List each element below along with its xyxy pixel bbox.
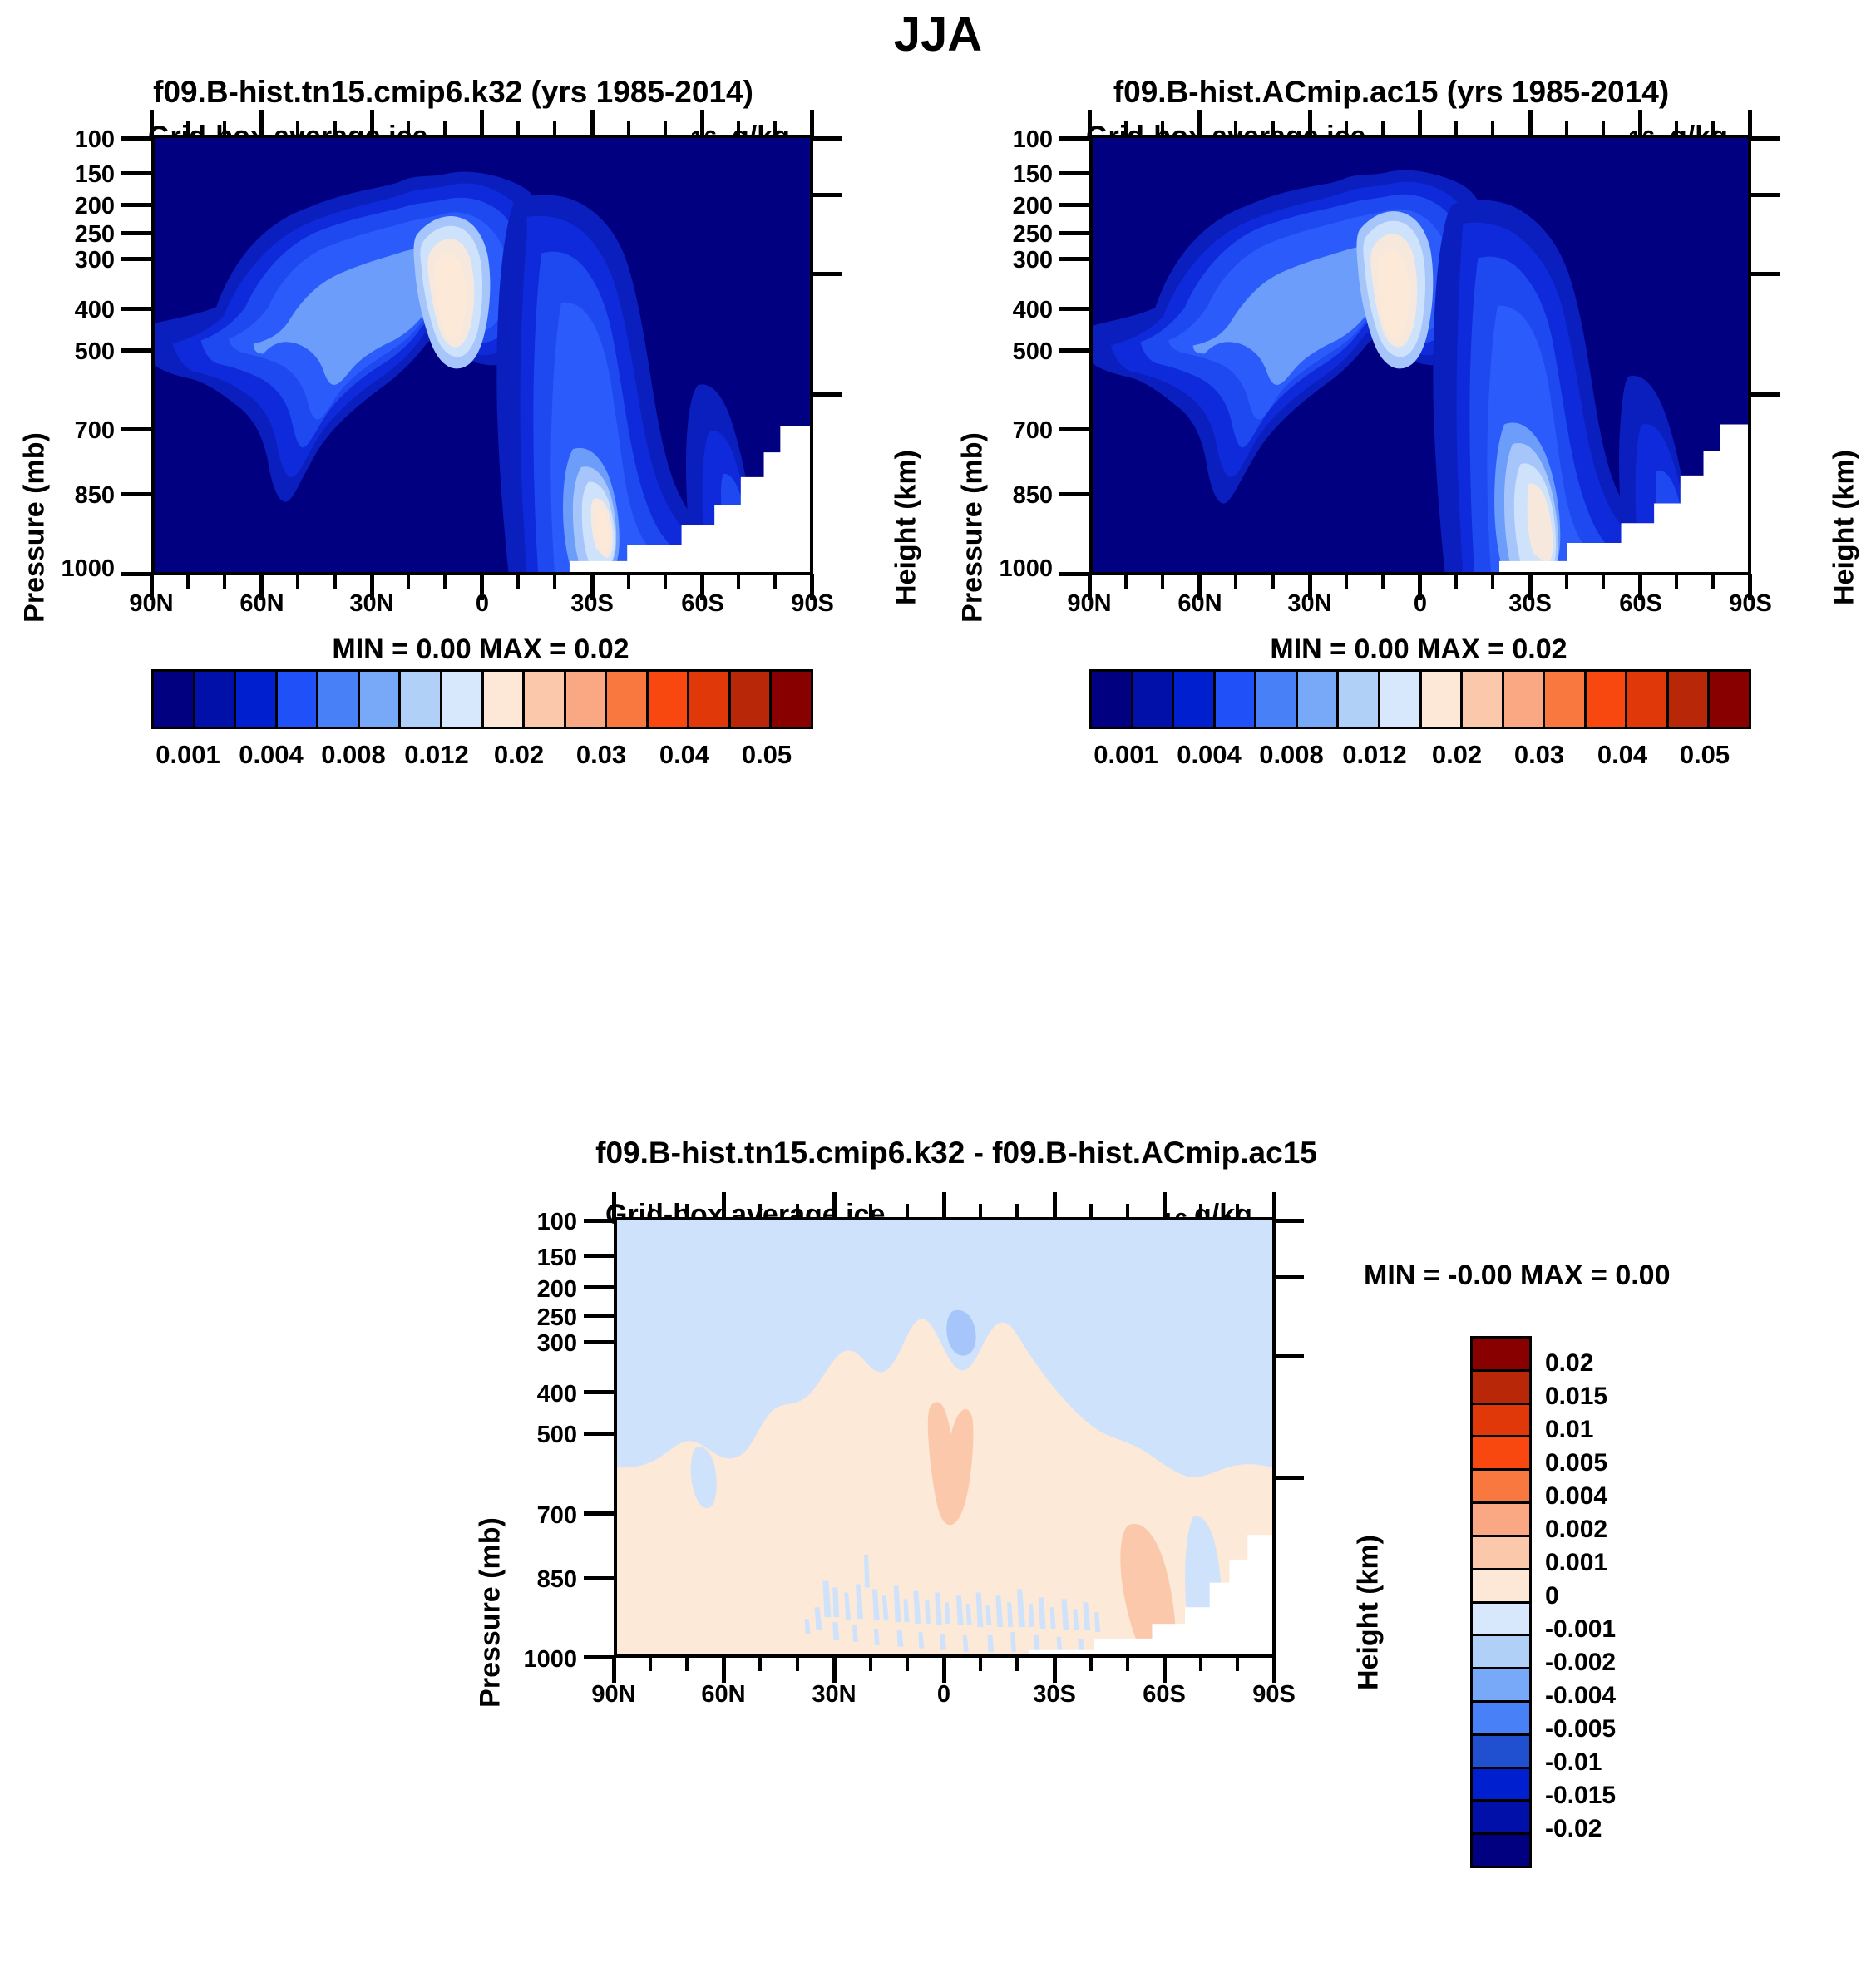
colorbar-cell-2 xyxy=(1174,672,1216,727)
colorbar-cell-9 xyxy=(525,672,566,727)
y-tick-label: 150 xyxy=(963,161,1053,189)
y-tick-label: 1000 xyxy=(963,555,1053,583)
colorbar-diff-cell-15 xyxy=(1473,1835,1529,1866)
x-tick-label: 30S xyxy=(1000,1681,1109,1708)
panel-top-left-contours xyxy=(155,138,810,574)
colorbar-cell-7 xyxy=(1380,672,1422,727)
y-tick-label: 400 xyxy=(487,1381,577,1408)
figure-title: JJA xyxy=(0,7,1876,62)
y-tick-label: 250 xyxy=(25,221,115,249)
x-tick-label: 30N xyxy=(779,1681,889,1708)
x-tick-label: 0 xyxy=(889,1681,999,1708)
colorbar-cell-8 xyxy=(1422,672,1464,727)
y-tick-label: 200 xyxy=(25,193,115,220)
panel-top-right-ylabel-height: Height (km) xyxy=(1829,395,1861,661)
colorbar-difference-labels: 0.02 0.015 0.01 0.005 0.004 0.002 0.001 … xyxy=(1545,1336,1753,1868)
panel-difference: f09.B-hist.tn15.cmip6.k32 - f09.B-hist.A… xyxy=(0,1131,1876,1982)
colorbar-cell-10 xyxy=(1504,672,1546,727)
y-tick-label: 400 xyxy=(25,297,115,324)
colorbar-diff-cell-4 xyxy=(1473,1471,1529,1504)
colorbar-diff-cell-12 xyxy=(1473,1736,1529,1769)
x-tick-label: 60S xyxy=(1109,1681,1219,1708)
colorbar-top-left xyxy=(151,669,813,729)
colorbar-cell-0 xyxy=(154,672,195,727)
panel-difference-plot xyxy=(614,1217,1276,1658)
colorbar-cell-4 xyxy=(1256,672,1298,727)
colorbar-diff-cell-10 xyxy=(1473,1669,1529,1703)
panel-top-right-minmax: MIN = 0.00 MAX = 0.02 xyxy=(1086,634,1751,666)
colorbar-top-right-labels: 0.001 0.004 0.008 0.012 0.02 0.03 0.04 0… xyxy=(1089,740,1751,778)
y-tick-label: 700 xyxy=(963,417,1053,445)
y-tick-label: 850 xyxy=(963,482,1053,510)
colorbar-cell-5 xyxy=(360,672,402,727)
colorbar-cell-6 xyxy=(401,672,442,727)
panel-top-right-contours xyxy=(1093,138,1748,574)
panel-top-left: f09.B-hist.tn15.cmip6.k32 (yrs 1985-2014… xyxy=(0,75,938,1156)
colorbar-cell-12 xyxy=(1587,672,1628,727)
colorbar-diff-cell-11 xyxy=(1473,1703,1529,1736)
y-tick-label: 300 xyxy=(25,247,115,274)
x-tick-label: 90S xyxy=(1219,1681,1329,1708)
colorbar-cell-14 xyxy=(731,672,773,727)
colorbar-diff-cell-0 xyxy=(1473,1339,1529,1372)
panel-top-right: f09.B-hist.ACmip.ac15 (yrs 1985-2014) Gr… xyxy=(938,75,1876,1156)
colorbar-diff-cell-7 xyxy=(1473,1570,1529,1604)
y-tick-label: 100 xyxy=(487,1209,577,1236)
y-tick-label: 250 xyxy=(487,1304,577,1332)
y-tick-label: 850 xyxy=(487,1566,577,1594)
y-tick-label: 1000 xyxy=(487,1646,577,1674)
colorbar-cell-3 xyxy=(278,672,319,727)
colorbar-cell-15 xyxy=(772,672,811,727)
x-tick-label: 60N xyxy=(669,1681,778,1708)
colorbar-difference xyxy=(1470,1336,1532,1868)
colorbar-cell-10 xyxy=(566,672,608,727)
y-tick-label: 850 xyxy=(25,482,115,510)
x-tick-label: 90N xyxy=(559,1681,669,1708)
colorbar-cell-1 xyxy=(195,672,237,727)
colorbar-cell-13 xyxy=(1627,672,1669,727)
colorbar-diff-cell-9 xyxy=(1473,1636,1529,1669)
colorbar-cell-13 xyxy=(689,672,731,727)
panel-top-right-plot xyxy=(1089,135,1751,575)
colorbar-cell-0 xyxy=(1092,672,1133,727)
y-tick-label: 700 xyxy=(25,417,115,445)
colorbar-cell-3 xyxy=(1216,672,1257,727)
colorbar-cell-15 xyxy=(1710,672,1749,727)
y-tick-label: 250 xyxy=(963,221,1053,249)
y-tick-label: 700 xyxy=(487,1502,577,1530)
colorbar-diff-cell-14 xyxy=(1473,1802,1529,1835)
y-tick-label: 150 xyxy=(25,161,115,189)
colorbar-top-right xyxy=(1089,669,1751,729)
panel-top-left-plot xyxy=(151,135,813,575)
colorbar-diff-cell-1 xyxy=(1473,1372,1529,1405)
panel-top-left-title: f09.B-hist.tn15.cmip6.k32 (yrs 1985-2014… xyxy=(0,75,906,110)
colorbar-cell-8 xyxy=(484,672,526,727)
panel-top-left-ylabel-height: Height (km) xyxy=(891,395,923,661)
colorbar-cell-14 xyxy=(1669,672,1711,727)
colorbar-diff-cell-3 xyxy=(1473,1437,1529,1471)
colorbar-diff-cell-13 xyxy=(1473,1769,1529,1802)
colorbar-cell-2 xyxy=(236,672,278,727)
y-tick-label: 150 xyxy=(487,1245,577,1272)
y-tick-label: 500 xyxy=(487,1422,577,1449)
panel-top-left-minmax: MIN = 0.00 MAX = 0.02 xyxy=(148,634,813,666)
colorbar-top-left-labels: 0.001 0.004 0.008 0.012 0.02 0.03 0.04 0… xyxy=(151,740,813,778)
panel-difference-minmax: MIN = -0.00 MAX = 0.00 xyxy=(1364,1260,1671,1292)
colorbar-cell-4 xyxy=(318,672,360,727)
y-tick-label: 100 xyxy=(963,126,1053,154)
panel-difference-contours xyxy=(617,1220,1272,1657)
y-tick-label: 200 xyxy=(963,193,1053,220)
colorbar-cell-9 xyxy=(1463,672,1504,727)
colorbar-cell-1 xyxy=(1133,672,1175,727)
colorbar-cell-12 xyxy=(649,672,690,727)
colorbar-diff-cell-5 xyxy=(1473,1504,1529,1537)
y-tick-label: 200 xyxy=(487,1276,577,1304)
y-tick-label: 500 xyxy=(963,338,1053,366)
panel-difference-title: f09.B-hist.tn15.cmip6.k32 - f09.B-hist.A… xyxy=(474,1136,1439,1171)
colorbar-cell-5 xyxy=(1298,672,1340,727)
panel-top-right-title: f09.B-hist.ACmip.ac15 (yrs 1985-2014) xyxy=(938,75,1844,110)
y-tick-label: 1000 xyxy=(25,555,115,583)
colorbar-diff-cell-2 xyxy=(1473,1405,1529,1438)
panel-difference-ylabel-height: Height (km) xyxy=(1353,1480,1385,1746)
y-tick-label: 400 xyxy=(963,297,1053,324)
y-tick-label: 500 xyxy=(25,338,115,366)
colorbar-cell-7 xyxy=(442,672,484,727)
y-tick-label: 300 xyxy=(487,1330,577,1358)
y-tick-label: 300 xyxy=(963,247,1053,274)
colorbar-diff-cell-8 xyxy=(1473,1604,1529,1637)
colorbar-cell-6 xyxy=(1339,672,1380,727)
y-tick-label: 100 xyxy=(25,126,115,154)
colorbar-cell-11 xyxy=(607,672,649,727)
colorbar-diff-cell-6 xyxy=(1473,1537,1529,1570)
colorbar-cell-11 xyxy=(1545,672,1587,727)
